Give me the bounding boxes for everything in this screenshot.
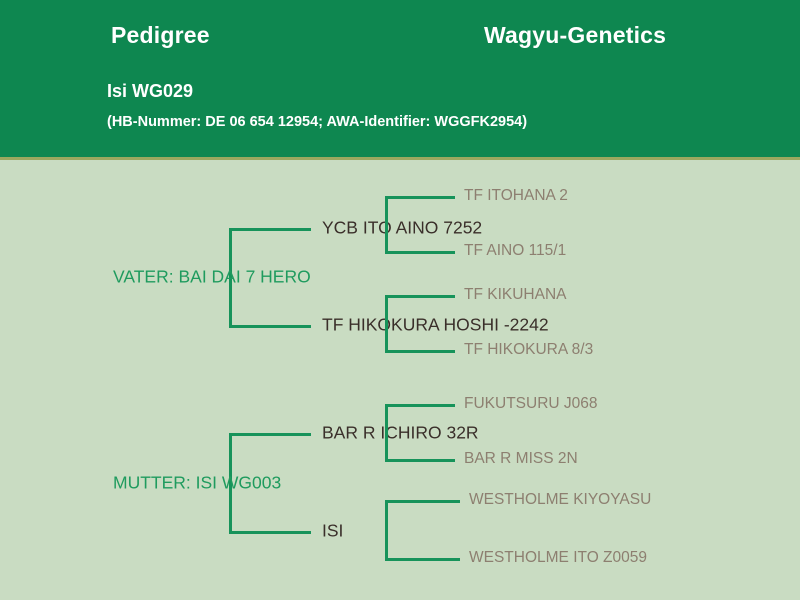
node-dam-dam-dam: WESTHOLME ITO Z0059	[469, 549, 647, 567]
node-sire-dam-sire: TF KIKUHANA	[464, 286, 566, 304]
connector-dam-dam-bottom-arm	[385, 558, 460, 561]
node-sire: VATER: BAI DAI 7 HERO	[113, 267, 311, 288]
connector-dam-sire-bottom-arm	[385, 459, 455, 462]
node-dam-sire-dam: BAR R MISS 2N	[464, 450, 578, 468]
pedigree-tree: VATER: BAI DAI 7 HERO YCB ITO AINO 7252 …	[0, 157, 800, 600]
connector-sire-sire-stem	[385, 196, 388, 254]
animal-name: Isi WG029	[107, 81, 193, 102]
connector-sire-dam-top-arm	[385, 295, 455, 298]
connector-sire-bottom-arm	[229, 325, 311, 328]
brand-title: Wagyu-Genetics	[484, 22, 666, 49]
node-sire-sire-sire: TF ITOHANA 2	[464, 187, 568, 205]
connector-sire-dam-bottom-arm	[385, 350, 455, 353]
animal-identifiers: (HB-Nummer: DE 06 654 12954; AWA-Identif…	[107, 114, 527, 130]
node-dam-dam: ISI	[322, 521, 343, 542]
node-sire-sire-dam: TF AINO 115/1	[464, 242, 566, 260]
page-header: Pedigree Wagyu-Genetics Isi WG029 (HB-Nu…	[0, 0, 800, 157]
connector-dam-dam-top-arm	[385, 500, 460, 503]
node-dam-dam-sire: WESTHOLME KIYOYASU	[469, 491, 651, 509]
node-sire-dam: TF HIKOKURA HOSHI -2242	[322, 315, 549, 336]
pedigree-page: Pedigree Wagyu-Genetics Isi WG029 (HB-Nu…	[0, 0, 800, 600]
page-title: Pedigree	[111, 22, 210, 49]
connector-sire-dam-stem	[385, 295, 388, 353]
connector-sire-sire-top-arm	[385, 196, 455, 199]
node-sire-sire: YCB ITO AINO 7252	[322, 218, 482, 239]
connector-dam-top-arm	[229, 433, 311, 436]
node-dam-sire-sire: FUKUTSURU J068	[464, 395, 598, 413]
node-dam: MUTTER: ISI WG003	[113, 473, 281, 494]
connector-dam-bottom-arm	[229, 531, 311, 534]
node-dam-sire: BAR R ICHIRO 32R	[322, 423, 479, 444]
node-sire-dam-dam: TF HIKOKURA 8/3	[464, 341, 593, 359]
connector-dam-sire-stem	[385, 404, 388, 462]
connector-sire-sire-bottom-arm	[385, 251, 455, 254]
connector-dam-sire-top-arm	[385, 404, 455, 407]
connector-sire-top-arm	[229, 228, 311, 231]
connector-dam-dam-stem	[385, 500, 388, 561]
